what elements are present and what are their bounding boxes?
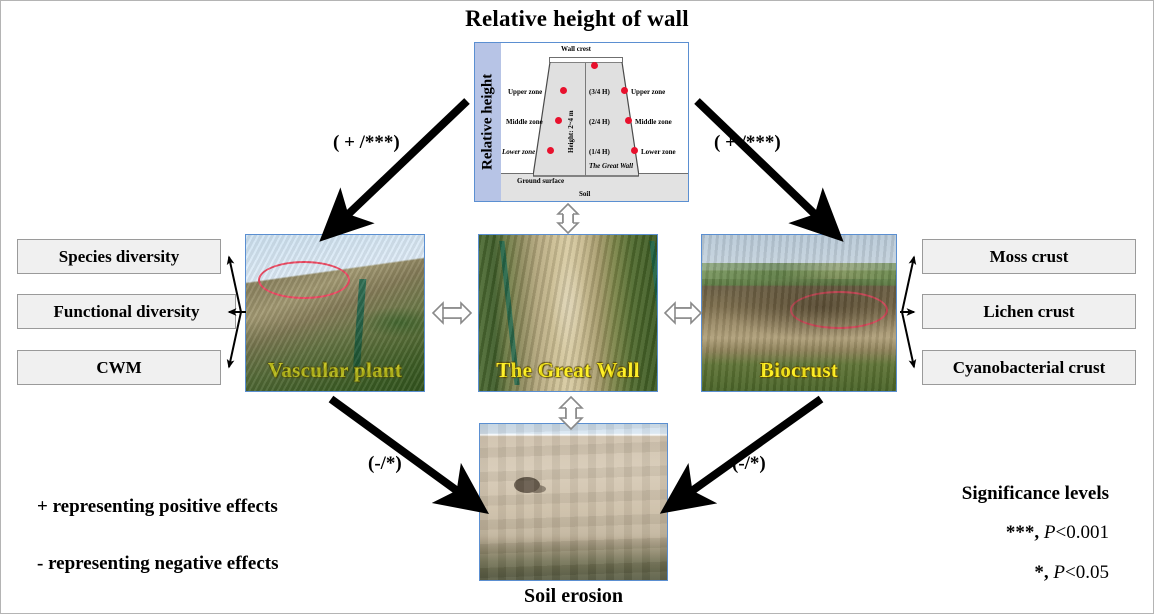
box-moss-crust[interactable]: Moss crust xyxy=(922,239,1136,274)
middle-zone-right-label: Middle zone xyxy=(635,119,672,126)
double-arrow-greatwall-to-biocrust xyxy=(665,303,701,323)
photo-caption-biocrust: Biocrust xyxy=(702,358,896,383)
arrow-wall-to-biocrust xyxy=(697,101,824,223)
soil-erosion-label: Soil erosion xyxy=(479,586,668,606)
edge-label-top-left: ( + /***) xyxy=(333,133,400,152)
box-label: Lichen crust xyxy=(983,302,1074,322)
ground-surface-label: Ground surface xyxy=(517,178,564,185)
wall-body-outline xyxy=(533,62,639,177)
upper-zone-left-label: Upper zone xyxy=(508,89,542,96)
edge-label-bottom-right: (-/*) xyxy=(732,454,766,473)
wall-crest-label: Wall crest xyxy=(561,46,591,53)
box-label: CWM xyxy=(96,358,141,378)
double-arrow-wall-to-greatwall xyxy=(558,204,578,233)
box-cyanobacterial-crust[interactable]: Cyanobacterial crust xyxy=(922,350,1136,385)
box-label: Species diversity xyxy=(59,247,179,267)
box-functional-diversity[interactable]: Functional diversity xyxy=(17,294,236,329)
significance-value-2: <0.05 xyxy=(1065,562,1109,583)
arrow-biocrust-to-right-boxes xyxy=(900,257,914,367)
upper-zone-left-dot xyxy=(560,87,567,94)
wall-name-label: The Great Wall xyxy=(589,163,633,170)
lower-zone-right-label: Lower zone xyxy=(641,149,676,156)
wall-height-label: Height: 2~4 m xyxy=(567,101,575,153)
significance-p-1: P xyxy=(1044,522,1056,543)
significance-stars-2: *, xyxy=(1034,562,1053,583)
significance-title: Significance levels xyxy=(1,484,1109,503)
middle-zone-right-dot xyxy=(625,117,632,124)
upper-zone-right-dot xyxy=(621,87,628,94)
photo-caption-great-wall: The Great Wall xyxy=(479,358,657,383)
crest-brace xyxy=(549,57,623,64)
box-label: Moss crust xyxy=(990,247,1069,267)
upper-zone-fraction: (3/4 H) xyxy=(589,89,610,96)
box-species-diversity[interactable]: Species diversity xyxy=(17,239,221,274)
relative-height-band: Relative height xyxy=(475,43,501,201)
double-arrow-vascular-to-greatwall xyxy=(433,303,471,323)
lower-zone-left-label: Lower zone xyxy=(502,149,535,156)
box-label: Functional diversity xyxy=(54,302,200,322)
soil-label: Soil xyxy=(579,191,590,198)
photo-vascular-plant: Vascular plant xyxy=(245,234,425,392)
upper-zone-right-label: Upper zone xyxy=(631,89,665,96)
photo-great-wall: The Great Wall xyxy=(478,234,658,392)
significance-stars-1: ***, xyxy=(1006,522,1044,543)
significance-level-2: *, P<0.05 xyxy=(1,562,1109,584)
highlight-ellipse xyxy=(790,291,888,329)
center-line xyxy=(585,63,586,176)
significance-level-1: ***, P<0.001 xyxy=(1,522,1109,544)
relative-height-label: Relative height xyxy=(475,43,501,201)
significance-p-2: P xyxy=(1053,562,1065,583)
wall-schematic: Relative height Ground surface Soil Wall… xyxy=(474,42,689,202)
arrow-wall-to-vascular-plant xyxy=(339,101,467,223)
middle-zone-left-dot xyxy=(555,117,562,124)
crest-dot xyxy=(591,62,598,69)
significance-value-1: <0.001 xyxy=(1056,522,1109,543)
page-title: Relative height of wall xyxy=(1,7,1153,30)
box-lichen-crust[interactable]: Lichen crust xyxy=(922,294,1136,329)
photo-caption-vascular-plant: Vascular plant xyxy=(246,358,424,383)
edge-label-bottom-left: (-/*) xyxy=(368,454,402,473)
lower-zone-right-dot xyxy=(631,147,638,154)
lower-zone-left-dot xyxy=(547,147,554,154)
edge-label-top-right: ( + /***) xyxy=(714,133,781,152)
figure-root: Relative height of wall Relative height … xyxy=(0,0,1154,614)
highlight-ellipse xyxy=(258,261,350,299)
middle-zone-left-label: Middle zone xyxy=(506,119,543,126)
box-label: Cyanobacterial crust xyxy=(953,358,1106,378)
lower-zone-fraction: (1/4 H) xyxy=(589,149,610,156)
middle-zone-fraction: (2/4 H) xyxy=(589,119,610,126)
box-cwm[interactable]: CWM xyxy=(17,350,221,385)
photo-biocrust: Biocrust xyxy=(701,234,897,392)
